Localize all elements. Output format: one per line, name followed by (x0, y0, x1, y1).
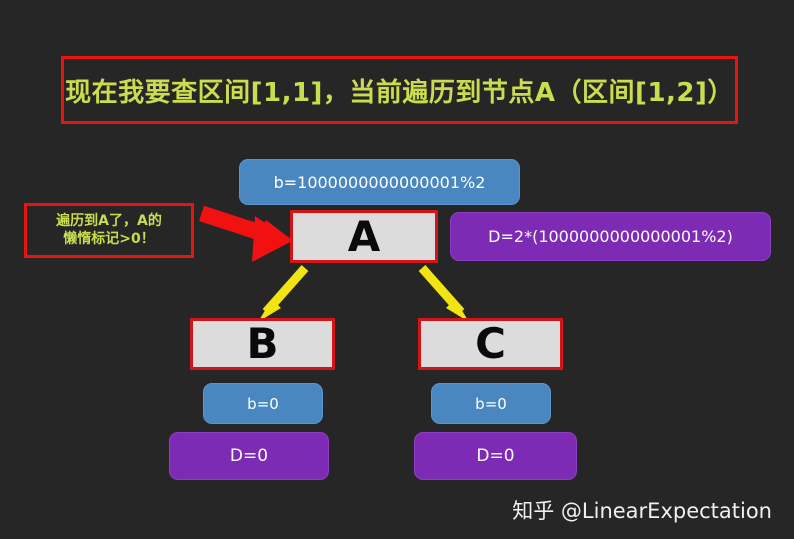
tree-node-b-label: B (246, 323, 278, 365)
tree-node-a[interactable]: A (290, 210, 438, 263)
annotation-note-line-2: 懒惰标记>0！ (63, 231, 154, 249)
tree-node-c[interactable]: C (418, 318, 563, 370)
node-a-b-chip: b=1000000000000001%2 (239, 159, 520, 205)
node-c-d-chip: D=0 (414, 432, 577, 480)
yellow-edge-arrow-to-c (422, 268, 469, 322)
yellow-edge-arrow-to-b (258, 268, 305, 322)
title-text: 现在我要查区间[1,1]，当前遍历到节点A（区间[1,2]） (65, 72, 734, 109)
watermark: 知乎 @LinearExpectation (512, 495, 772, 525)
annotation-note-line-1: 遍历到A了，A的 (56, 213, 162, 231)
annotation-note: 遍历到A了，A的 懒惰标记>0！ (24, 203, 194, 258)
diagram-canvas: 现在我要查区间[1,1]，当前遍历到节点A（区间[1,2]） 遍历到A了，A的 … (0, 0, 794, 539)
tree-node-b[interactable]: B (190, 318, 335, 370)
tree-node-c-label: C (475, 323, 506, 365)
node-b-b-chip: b=0 (203, 383, 323, 424)
node-a-d-chip: D=2*(1000000000000001%2) (450, 212, 771, 261)
node-b-d-chip: D=0 (169, 432, 329, 480)
node-c-b-chip: b=0 (431, 383, 551, 424)
tree-node-a-label: A (348, 216, 381, 258)
red-pointer-arrow (199, 206, 292, 262)
title-banner: 现在我要查区间[1,1]，当前遍历到节点A（区间[1,2]） (61, 56, 738, 124)
